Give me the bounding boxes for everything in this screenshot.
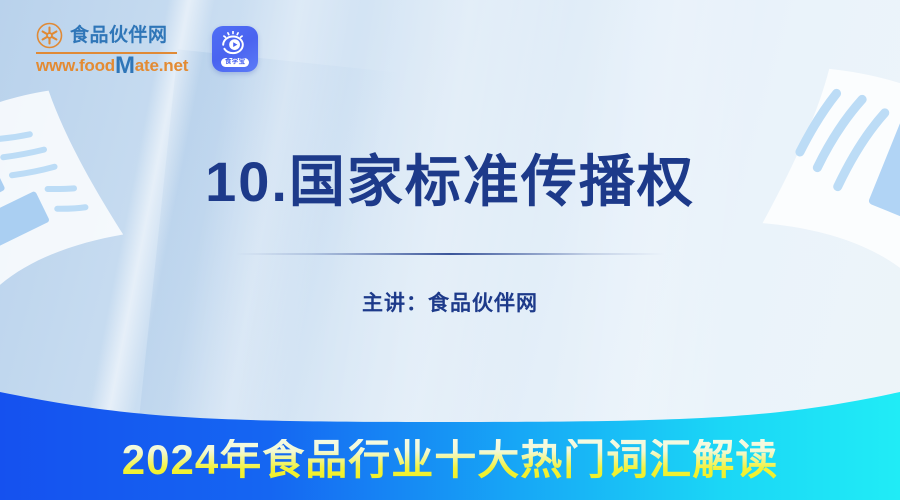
foodmate-url-suffix: ate.net <box>135 56 188 75</box>
banner-title: 2024年食品行业十大热门词汇解读 <box>0 439 900 481</box>
logo-bar: 食品伙伴网 www.foodMate.net <box>36 22 258 75</box>
foodmate-logo[interactable]: 食品伙伴网 www.foodMate.net <box>36 22 188 75</box>
foodmate-url: www.foodMate.net <box>36 56 188 76</box>
foodmate-logo-top: 食品伙伴网 <box>36 22 188 49</box>
eye-play-icon <box>220 31 250 57</box>
foodmate-name-cn: 食品伙伴网 <box>70 26 168 45</box>
shixuebao-app-icon[interactable]: 食学宝 <box>212 26 258 72</box>
title-divider <box>235 253 665 255</box>
foodmate-rule <box>36 52 177 54</box>
presentation-slide: 食品伙伴网 www.foodMate.net <box>0 0 900 500</box>
shixuebao-app-label: 食学宝 <box>221 58 249 68</box>
title-block: 10.国家标准传播权 主讲：食品伙伴网 <box>0 150 900 317</box>
foodmate-url-initial: M <box>115 52 135 79</box>
bottom-banner: 2024年食品行业十大热门词汇解读 <box>0 392 900 500</box>
flower-circle-icon <box>36 22 63 49</box>
presenter-label: 主讲：食品伙伴网 <box>0 287 900 317</box>
foodmate-url-prefix: www.food <box>36 56 115 75</box>
page-title: 10.国家标准传播权 <box>0 150 900 214</box>
